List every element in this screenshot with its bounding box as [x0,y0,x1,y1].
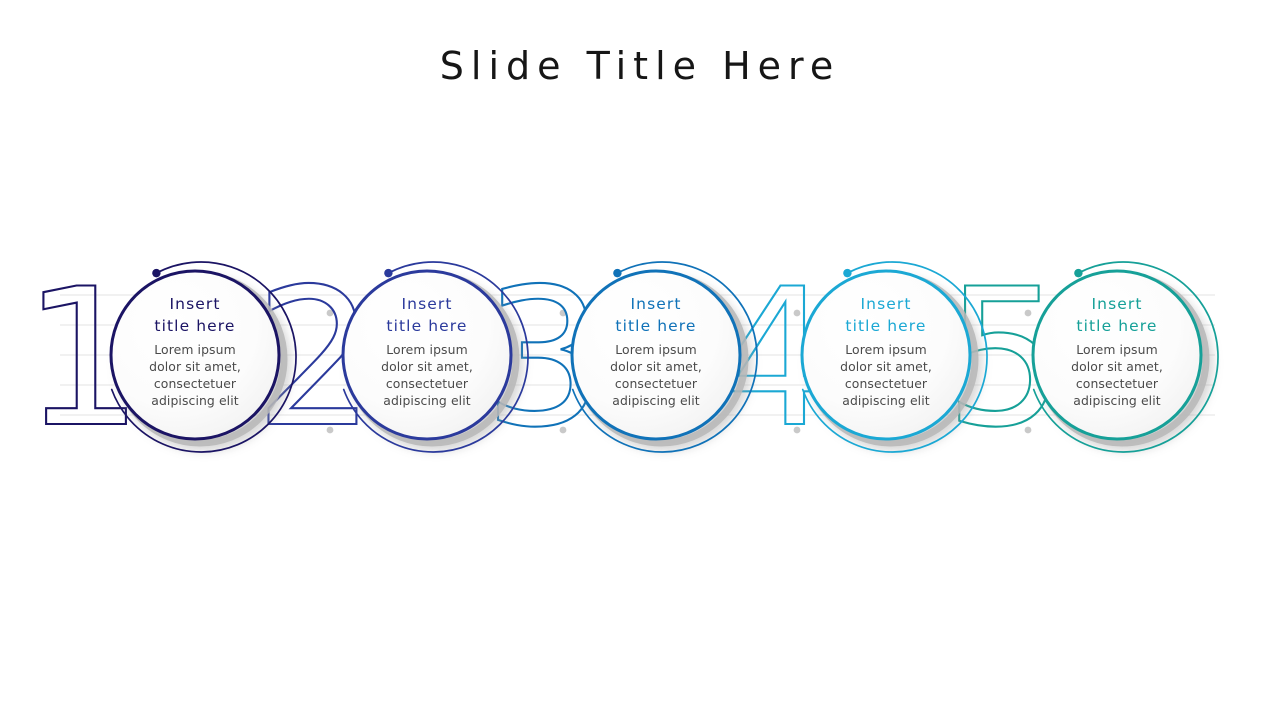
step-circle-4[interactable] [802,262,987,452]
step-circles [0,0,1280,720]
step-circle-2[interactable] [343,262,528,452]
slide-canvas: Slide Title Here 12345 Insert title here… [0,0,1280,720]
step-circle-3[interactable] [572,262,757,452]
step-circle-1[interactable] [111,262,296,452]
arc-end-dot [613,269,621,277]
arc-end-dot [843,269,851,277]
arc-end-dot [1074,269,1082,277]
process-infographic: 12345 [0,0,1280,720]
arc-end-dot [152,269,160,277]
step-circle-5[interactable] [1033,262,1218,452]
arc-end-dot [384,269,392,277]
